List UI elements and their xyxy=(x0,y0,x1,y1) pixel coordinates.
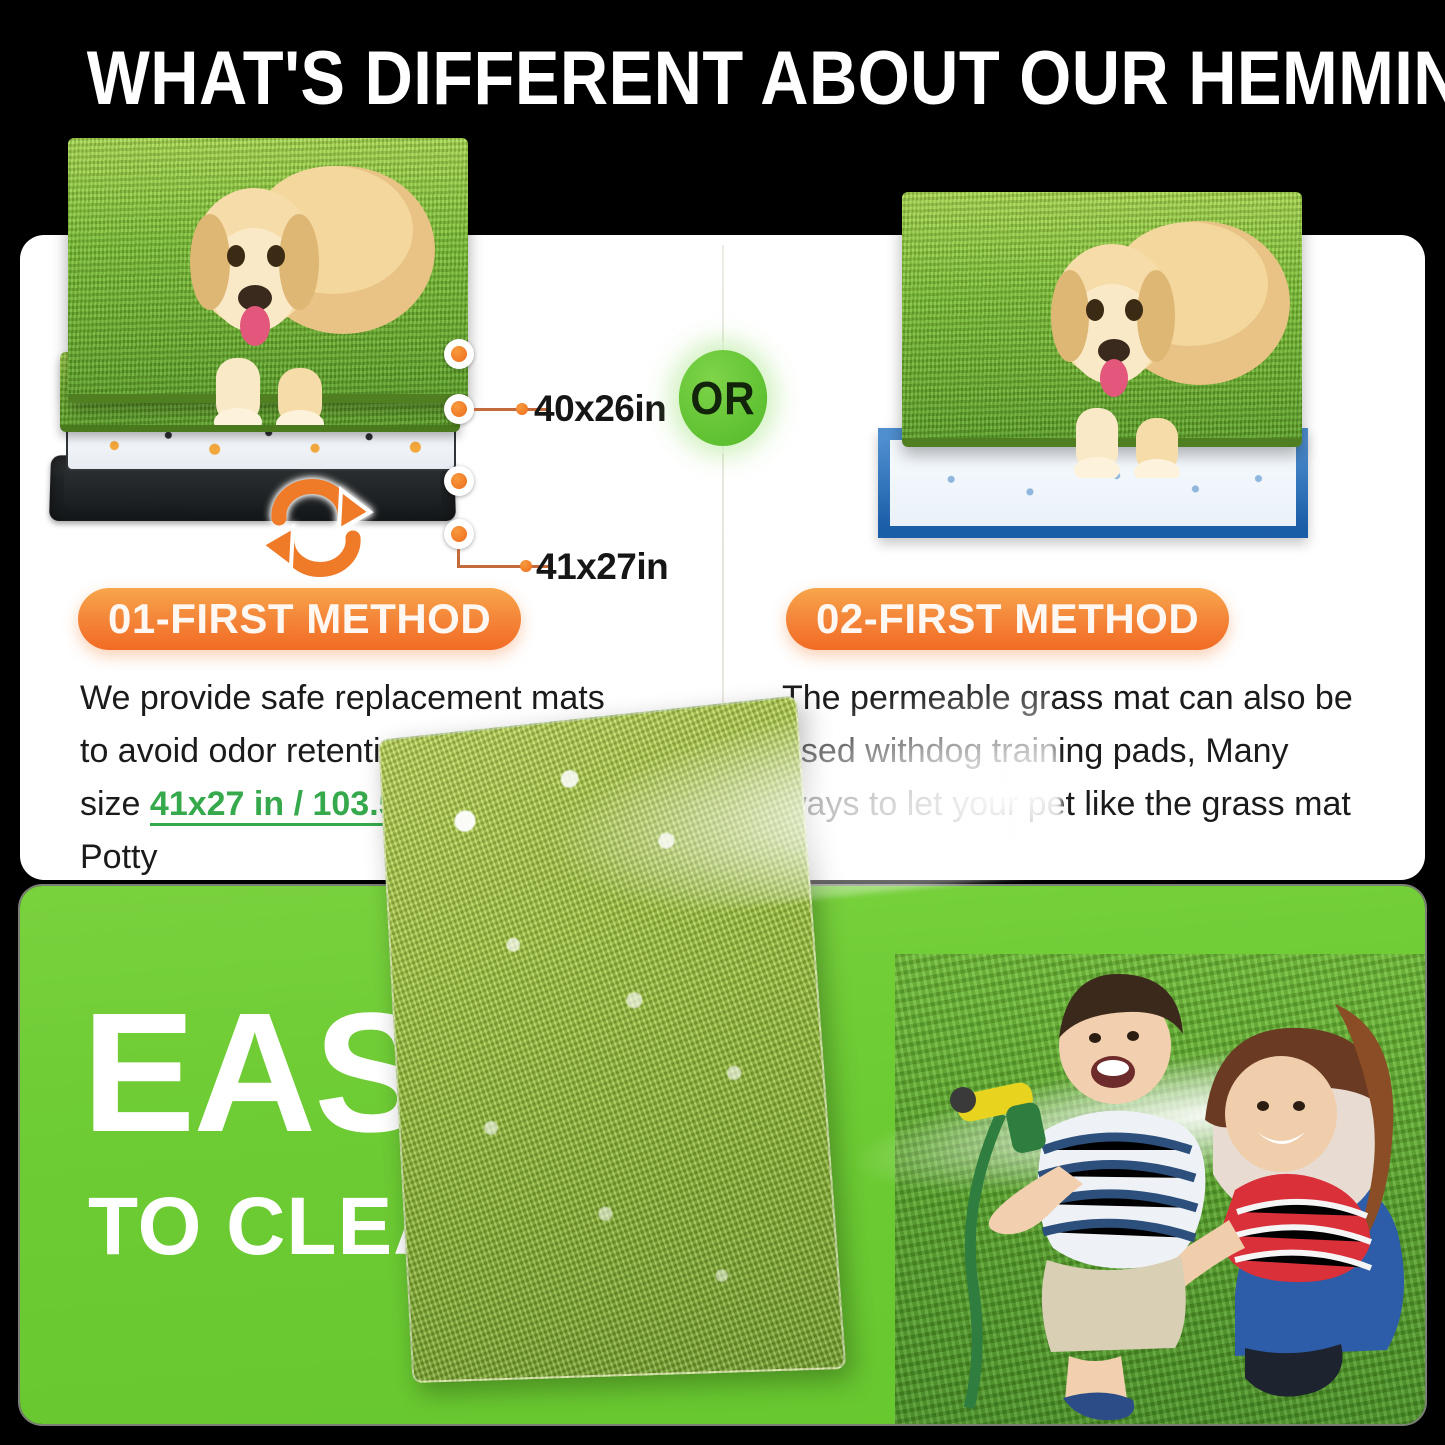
callout-dot-41x27 xyxy=(444,519,474,549)
grass-mat-with-pad-product-photo xyxy=(860,150,1340,550)
method-body-02-text: The permeable grass mat can also be used… xyxy=(782,679,1353,823)
garden-hose-icon xyxy=(905,1074,1165,1414)
callout-dot-40x26 xyxy=(444,394,474,424)
infographic-root: WHAT'S DIFFERENT ABOUT OUR HEMMING GRASS… xyxy=(0,0,1445,1445)
method-badge-02: 02-FIRST METHOD xyxy=(786,588,1229,650)
swap-arrows-icon xyxy=(255,472,377,587)
golden-retriever-dog xyxy=(158,130,448,425)
page-title: WHAT'S DIFFERENT ABOUT OUR HEMMING GRASS… xyxy=(87,36,1359,122)
callout-dot-pee-pad xyxy=(444,466,474,496)
callout-endpoint-40x26 xyxy=(516,403,528,415)
or-label: OR xyxy=(690,371,755,425)
or-separator-badge: OR xyxy=(679,350,767,446)
golden-retriever-dog xyxy=(1020,188,1300,478)
lawn-photo xyxy=(895,954,1425,1424)
method-badge-01: 01-FIRST METHOD xyxy=(78,588,521,650)
callout-dot-top-mat xyxy=(444,339,474,369)
method-body-02: The permeable grass mat can also be used… xyxy=(782,672,1362,831)
wet-grass-mat-photo xyxy=(378,695,846,1383)
stacked-mats-product-photo xyxy=(30,120,500,570)
callout-label-40x26: 40x26in xyxy=(534,388,666,430)
callout-label-41x27: 41x27in xyxy=(536,546,668,588)
callout-endpoint-41x27 xyxy=(520,560,532,572)
